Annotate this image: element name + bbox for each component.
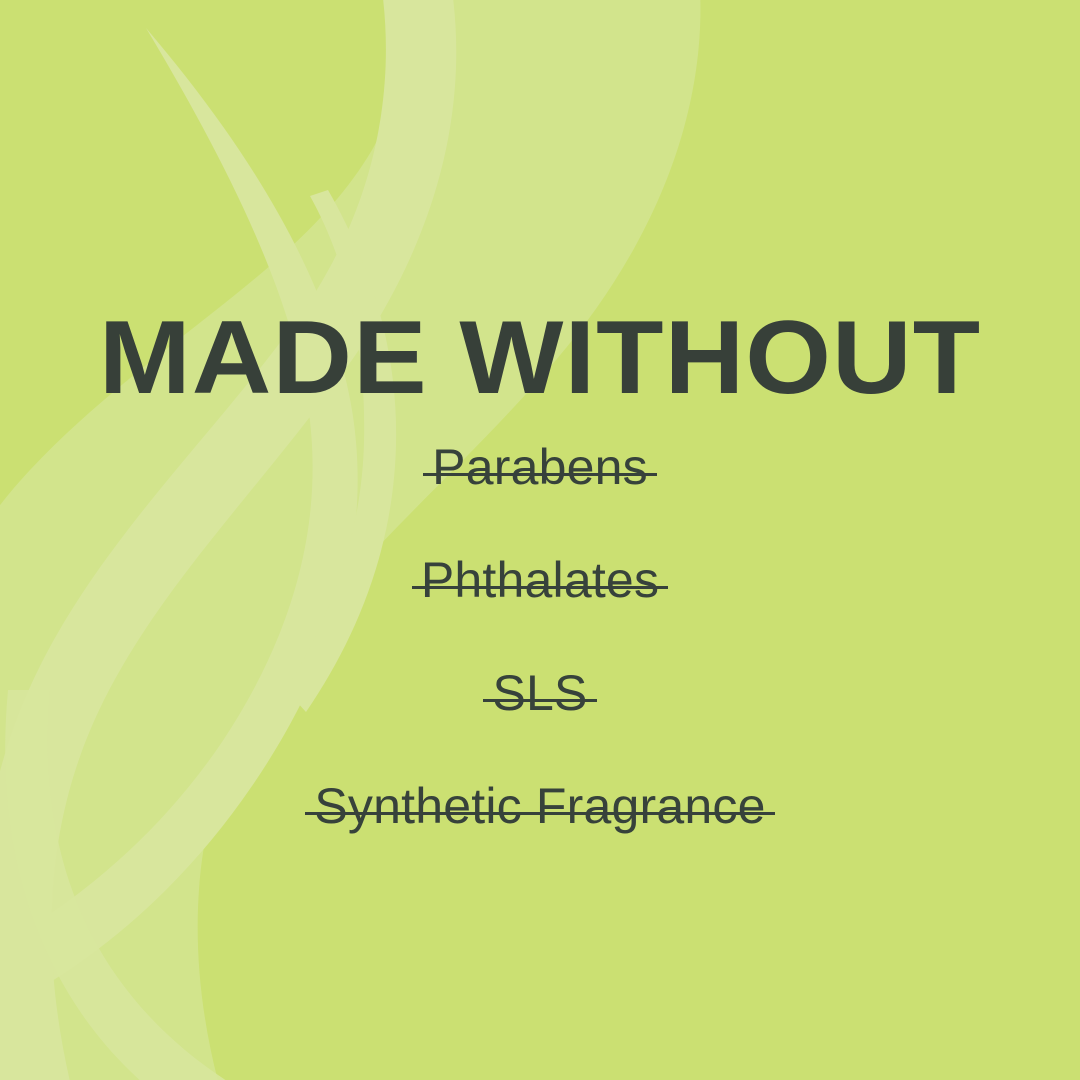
ingredient-label-sls: SLS	[483, 662, 596, 724]
list-item: SLS	[0, 662, 1080, 775]
excluded-ingredients-list: Parabens Phthalates SLS Synthetic Fragra…	[0, 436, 1080, 888]
made-without-card: MADE WITHOUT Parabens Phthalates SLS Syn…	[0, 0, 1080, 1080]
list-item: Parabens	[0, 436, 1080, 549]
ingredient-label-synthetic-fragrance: Synthetic Fragrance	[305, 775, 774, 837]
ingredient-label-parabens: Parabens	[423, 436, 657, 498]
ingredient-label-phthalates: Phthalates	[412, 549, 668, 611]
page-title: MADE WITHOUT	[0, 306, 1080, 410]
list-item: Synthetic Fragrance	[0, 775, 1080, 888]
card-content: MADE WITHOUT Parabens Phthalates SLS Syn…	[0, 0, 1080, 1080]
list-item: Phthalates	[0, 549, 1080, 662]
